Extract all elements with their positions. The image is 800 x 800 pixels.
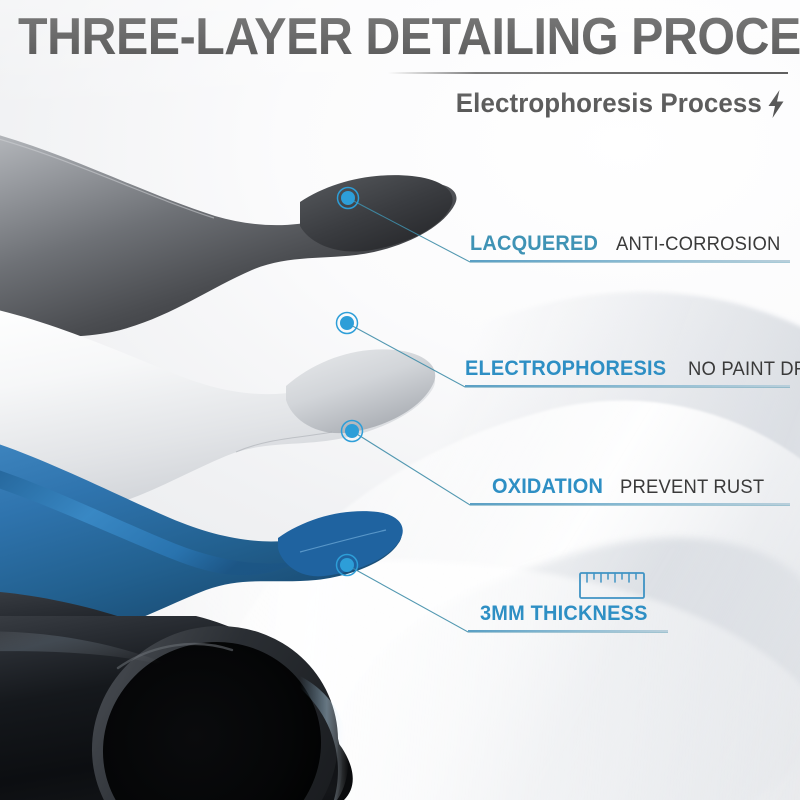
callout-electrophoresis[interactable]: ELECTROPHORESIS NO PAINT DROP <box>465 347 790 387</box>
callout-lacquered-text: LACQUERED ANTI-CORROSION <box>470 232 790 256</box>
callout-oxidation-underline <box>470 503 790 505</box>
subtitle: Electrophoresis Process <box>456 88 762 119</box>
oxidation-layer-tip <box>278 511 403 576</box>
callout-thickness-keyword: 3MM THICKNESS <box>480 602 648 626</box>
ruler-icon <box>578 569 646 603</box>
lightning-bolt-icon <box>766 89 786 119</box>
three-layer-pipe-illustration <box>0 120 520 800</box>
callout-electrophoresis-text: ELECTROPHORESIS NO PAINT DROP <box>465 357 790 381</box>
callout-electrophoresis-description: NO PAINT DROP <box>688 359 800 381</box>
callout-oxidation-keyword: OXIDATION <box>492 475 603 499</box>
callout-oxidation-text: OXIDATION PREVENT RUST <box>470 475 790 499</box>
page-title: THREE-LAYER DETAILING PROCESS <box>18 8 800 66</box>
callout-oxidation[interactable]: OXIDATION PREVENT RUST <box>470 465 790 505</box>
callout-lacquered-keyword: LACQUERED <box>470 232 598 256</box>
title-divider <box>388 72 788 74</box>
callout-lacquered-underline <box>470 260 790 262</box>
electrophoresis-layer-tip <box>286 349 435 433</box>
callout-oxidation-description: PREVENT RUST <box>620 477 764 499</box>
header: THREE-LAYER DETAILING PROCESS Electropho… <box>0 0 800 150</box>
infographic-canvas: THREE-LAYER DETAILING PROCESS Electropho… <box>0 0 800 800</box>
subtitle-row: Electrophoresis Process <box>443 88 786 119</box>
lacquered-layer-tip <box>300 175 453 251</box>
callout-electrophoresis-underline <box>465 385 790 387</box>
callout-lacquered-description: ANTI-CORROSION <box>616 234 781 256</box>
callout-electrophoresis-keyword: ELECTROPHORESIS <box>465 357 666 381</box>
callout-thickness-underline <box>468 630 668 632</box>
callout-lacquered[interactable]: LACQUERED ANTI-CORROSION <box>470 222 790 262</box>
callout-thickness-text: 3MM THICKNESS <box>468 602 668 626</box>
